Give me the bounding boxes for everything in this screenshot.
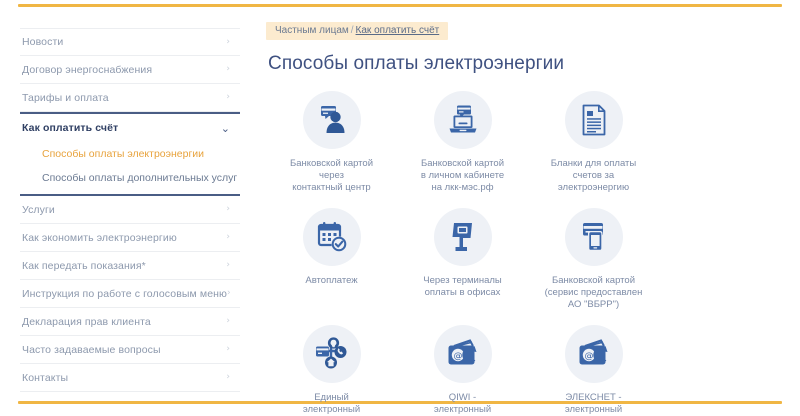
calendar-check-icon [315, 220, 349, 254]
method-icon-wrap: @ [434, 325, 492, 383]
sidebar-item-kak-oplatit-schet[interactable]: Как оплатить счёт ⌄ [20, 112, 240, 142]
method-icon-wrap [303, 325, 361, 383]
main-content: Частным лицам/Как оплатить счёт Способы … [248, 18, 800, 416]
method-icon-wrap [565, 208, 623, 266]
sidebar-subitem-sposoby-oplaty-dopolnitelnyh-uslug[interactable]: Способы оплаты дополнительных услуг [20, 166, 240, 190]
card-person-icon [315, 103, 349, 137]
document-lines-icon [578, 103, 610, 137]
sidebar-item-label: Новости [22, 36, 63, 48]
method-label: Единый электронный платеж [303, 392, 360, 416]
sidebar-item-instrukciya-golosovoe-menyu[interactable]: Инструкция по работе с голосовым меню › [20, 280, 240, 308]
payment-method-eleksnet-wallet[interactable]: @ ЭЛЕКСНЕТ - электронный кошелек [528, 321, 659, 416]
chevron-right-icon: › [226, 205, 230, 214]
page-title: Способы оплаты электроэнергии [268, 53, 786, 75]
payment-method-office-terminals[interactable]: Через терминалы оплаты в офисах [397, 204, 528, 321]
method-label: Банковской картой в личном кабинете на л… [421, 158, 504, 194]
chevron-right-icon: › [226, 345, 230, 354]
content-wrapper: Новости › Договор энергоснабжения › Тари… [0, 18, 800, 390]
payment-method-unified-electronic[interactable]: Единый электронный платеж [266, 321, 397, 416]
sidebar-item-kontakty[interactable]: Контакты › [20, 364, 240, 392]
chevron-down-icon: ⌄ [221, 123, 230, 134]
sidebar-item-label: Инструкция по работе с голосовым меню [22, 288, 227, 300]
payment-methods-grid: Банковской картой через контактный центр [266, 87, 786, 416]
sidebar-subnav: Способы оплаты электроэнергии Способы оп… [20, 142, 240, 196]
breadcrumb: Частным лицам/Как оплатить счёт [266, 22, 448, 40]
method-label: Автоплатеж [305, 275, 357, 287]
sidebar-item-label: Как оплатить счёт [22, 122, 118, 134]
sidebar-nav: Новости › Договор энергоснабжения › Тари… [0, 18, 248, 392]
chevron-right-icon: › [226, 93, 230, 102]
sidebar-subitem-sposoby-oplaty-elektroenergii[interactable]: Способы оплаты электроэнергии [20, 142, 240, 166]
method-label: ЭЛЕКСНЕТ - электронный кошелек [565, 392, 622, 416]
chevron-right-icon: › [226, 261, 230, 270]
sidebar-item-deklaraciya-prav-klienta[interactable]: Декларация прав клиента › [20, 308, 240, 336]
svg-text:@: @ [453, 351, 462, 361]
payment-method-card-contact-center[interactable]: Банковской картой через контактный центр [266, 87, 397, 204]
chevron-right-icon: › [226, 65, 230, 74]
unified-payment-icon [314, 337, 350, 371]
payment-terminal-icon [446, 220, 480, 254]
page-root: Новости › Договор энергоснабжения › Тари… [0, 0, 800, 416]
payment-method-invoice-forms[interactable]: Бланки для оплаты счетов за электроэнерг… [528, 87, 659, 204]
wallet-at-icon: @ [446, 339, 480, 369]
card-laptop-icon [446, 103, 480, 137]
method-label: Банковской картой через контактный центр [290, 158, 373, 194]
method-icon-wrap [434, 208, 492, 266]
top-accent-bar [18, 4, 782, 7]
chevron-right-icon: › [226, 233, 230, 242]
sidebar-item-label: Как экономить электроэнергию [22, 232, 177, 244]
sidebar-item-uslugi[interactable]: Услуги › [20, 196, 240, 224]
payment-method-qiwi-wallet[interactable]: @ QIWI - электронный кошелек [397, 321, 528, 416]
sidebar-item-label: Контакты [22, 372, 68, 384]
method-icon-wrap [434, 91, 492, 149]
sidebar-item-label: Услуги [22, 204, 55, 216]
sidebar-item-label: Договор энергоснабжения [22, 64, 152, 76]
card-phone-icon [577, 220, 611, 254]
sidebar-item-dogovor-energosnabzheniya[interactable]: Договор энергоснабжения › [20, 56, 240, 84]
payment-method-card-vbrr[interactable]: Банковской картой (сервис предоставлен А… [528, 204, 659, 321]
sidebar-item-novosti[interactable]: Новости › [20, 28, 240, 56]
method-label: Бланки для оплаты счетов за электроэнерг… [551, 158, 636, 194]
payment-method-autopayment[interactable]: Автоплатеж [266, 204, 397, 321]
chevron-right-icon: › [226, 38, 230, 47]
payment-method-card-personal-account[interactable]: Банковской картой в личном кабинете на л… [397, 87, 528, 204]
method-icon-wrap: @ [565, 325, 623, 383]
breadcrumb-root[interactable]: Частным лицам [275, 25, 349, 36]
sidebar-item-chasto-zadavaemye-voprosy[interactable]: Часто задаваемые вопросы › [20, 336, 240, 364]
sidebar-item-label: Декларация прав клиента [22, 316, 151, 328]
method-icon-wrap [303, 91, 361, 149]
svg-text:@: @ [584, 351, 593, 361]
chevron-right-icon: › [227, 289, 231, 298]
chevron-right-icon: › [226, 373, 230, 382]
sidebar-item-label: Тарифы и оплата [22, 92, 109, 104]
chevron-right-icon: › [226, 317, 230, 326]
breadcrumb-separator: / [349, 25, 356, 36]
method-icon-wrap [303, 208, 361, 266]
method-label: QIWI - электронный кошелек [434, 392, 491, 416]
sidebar-item-tarify-i-oplata[interactable]: Тарифы и оплата › [20, 84, 240, 112]
method-label: Через терминалы оплаты в офисах [423, 275, 502, 299]
method-icon-wrap [565, 91, 623, 149]
sidebar-item-label: Часто задаваемые вопросы [22, 344, 161, 356]
breadcrumb-current-link[interactable]: Как оплатить счёт [356, 25, 440, 36]
sidebar-item-label: Как передать показания* [22, 260, 146, 272]
sidebar-item-kak-ekonomit-elektroenergiyu[interactable]: Как экономить электроэнергию › [20, 224, 240, 252]
wallet-at-icon: @ [577, 339, 611, 369]
sidebar-item-kak-peredat-pokazaniya[interactable]: Как передать показания* › [20, 252, 240, 280]
method-label: Банковской картой (сервис предоставлен А… [545, 275, 643, 311]
